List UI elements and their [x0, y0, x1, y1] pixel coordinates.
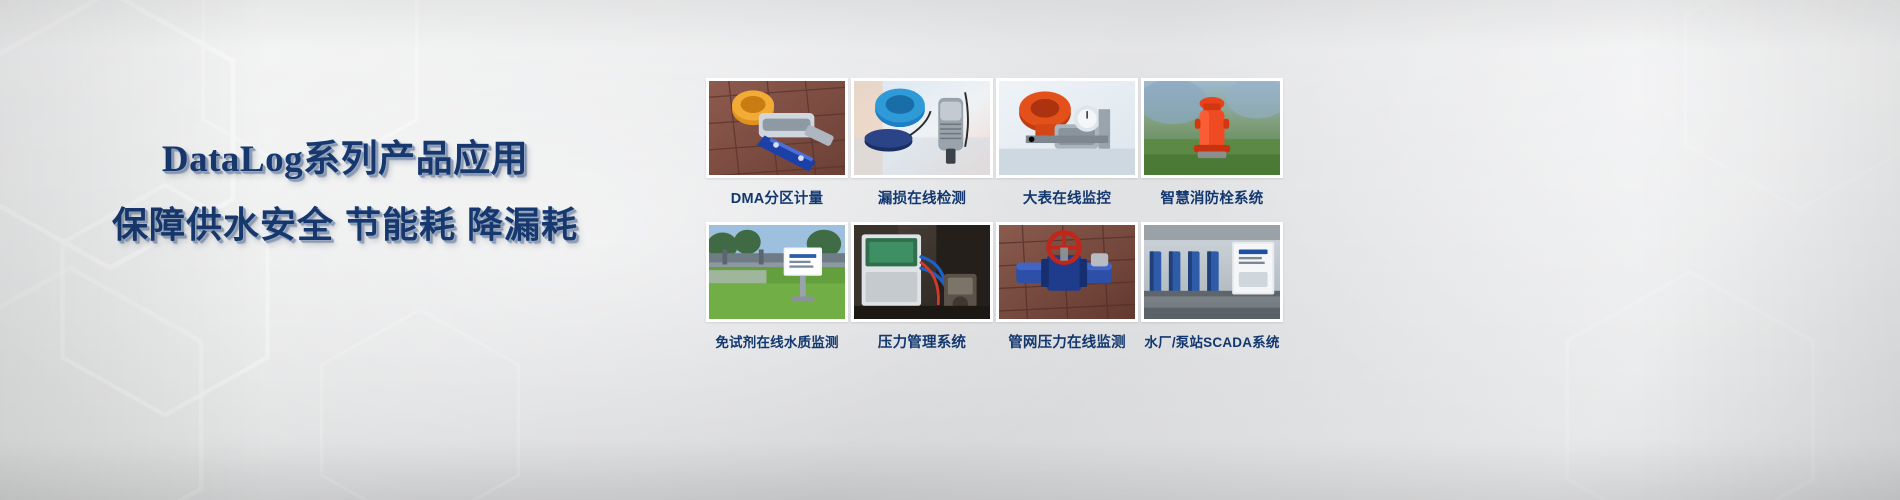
leak-logger-icon — [854, 81, 990, 175]
product-card[interactable]: DMA分区计量 — [706, 78, 848, 208]
product-thumbnail[interactable] — [996, 78, 1138, 178]
hexagon-icon — [1660, 0, 1900, 220]
product-caption: 免试剂在线水质监测 — [706, 331, 848, 351]
product-card[interactable]: 智慧消防栓系统 — [1141, 78, 1283, 208]
product-thumbnail[interactable] — [706, 222, 848, 322]
pipe-valve-icon — [999, 225, 1135, 319]
product-caption: 管网压力在线监测 — [996, 331, 1138, 352]
page-subtitle: 保障供水安全 节能耗 降漏耗 — [0, 205, 690, 245]
product-thumbnail[interactable] — [1141, 222, 1283, 322]
product-thumbnail[interactable] — [706, 78, 848, 178]
product-card[interactable]: 压力管理系统 — [851, 222, 993, 352]
water-quality-station-icon — [709, 225, 845, 319]
product-thumbnail[interactable] — [1141, 78, 1283, 178]
product-thumbnail[interactable] — [996, 222, 1138, 322]
hexagon-icon — [0, 255, 230, 500]
large-meter-icon — [999, 81, 1135, 175]
product-card[interactable]: 免试剂在线水质监测 — [706, 222, 848, 352]
product-application-grid: DMA分区计量 — [706, 78, 1283, 352]
product-caption: 压力管理系统 — [851, 331, 993, 352]
product-caption: 大表在线监控 — [996, 187, 1138, 208]
scada-cabinet-icon — [1144, 225, 1280, 319]
product-card[interactable]: 管网压力在线监测 — [996, 222, 1138, 352]
product-caption: 水厂/泵站SCADA系统 — [1141, 331, 1283, 351]
product-caption: 漏损在线检测 — [851, 187, 993, 208]
pressure-cabinet-icon — [854, 225, 990, 319]
hexagon-icon — [1540, 260, 1840, 500]
flow-meter-icon — [709, 81, 845, 175]
page-title: DataLog系列产品应用 — [0, 140, 690, 181]
product-card[interactable]: 大表在线监控 — [996, 78, 1138, 208]
fire-hydrant-icon — [1144, 81, 1280, 175]
product-caption: DMA分区计量 — [706, 187, 848, 208]
product-thumbnail[interactable] — [851, 78, 993, 178]
product-application-banner: DataLog系列产品应用 保障供水安全 节能耗 降漏耗 — [0, 0, 1900, 500]
product-card[interactable]: 水厂/泵站SCADA系统 — [1141, 222, 1283, 352]
headline-block: DataLog系列产品应用 保障供水安全 节能耗 降漏耗 — [0, 140, 690, 244]
product-card[interactable]: 漏损在线检测 — [851, 78, 993, 208]
product-thumbnail[interactable] — [851, 222, 993, 322]
product-caption: 智慧消防栓系统 — [1141, 187, 1283, 208]
hexagon-icon — [300, 300, 540, 500]
